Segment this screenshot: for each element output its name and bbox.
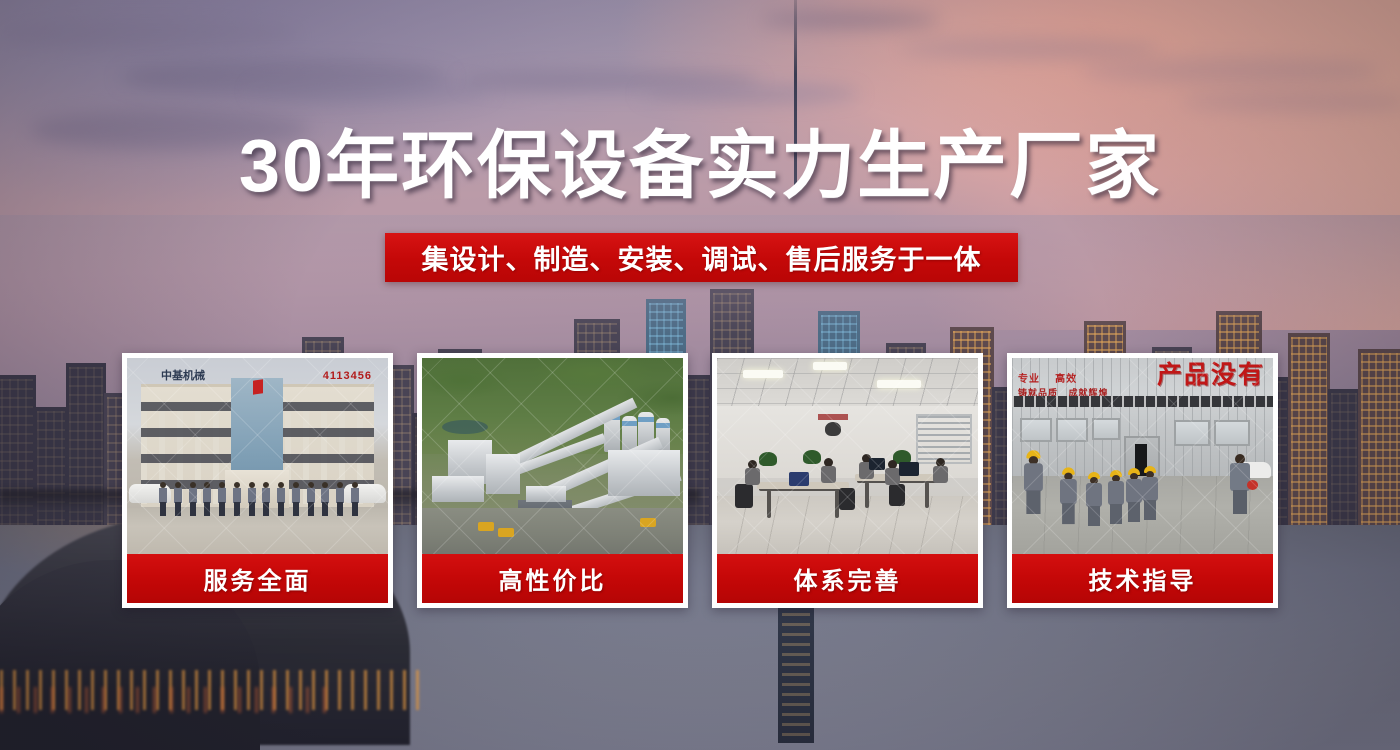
- card-caption-text: 体系完善: [794, 561, 902, 596]
- subtitle-banner: 集设计、制造、安装、调试、售后服务于一体: [385, 233, 1018, 282]
- factory-slogan-2: 高效: [1055, 374, 1077, 385]
- hero-banner: 30年环保设备实力生产厂家 集设计、制造、安装、调试、售后服务于一体 中基机械 …: [0, 0, 1400, 750]
- feature-card[interactable]: 产品没有 专业 高效 铸就品质 成就辉煌: [1007, 353, 1278, 608]
- factory-slogan-1: 专业: [1018, 374, 1040, 385]
- factory-signage-small: 专业 高效: [1018, 374, 1077, 386]
- cloud: [250, 78, 490, 104]
- page-title: 30年环保设备实力生产厂家: [0, 129, 1400, 203]
- feature-card[interactable]: 体系完善: [712, 353, 983, 608]
- cloud: [0, 20, 300, 50]
- card-caption-text: 服务全面: [204, 561, 312, 596]
- card-caption-bar: 体系完善: [717, 554, 978, 603]
- card-caption-bar: 高性价比: [422, 554, 683, 603]
- cloud: [900, 38, 1160, 60]
- feature-card-row: 中基机械 4113456: [122, 353, 1278, 608]
- office-window: [916, 414, 972, 464]
- card-photo-industrial-plant: [422, 358, 683, 554]
- card-photo-office-interior: [717, 358, 978, 554]
- card-caption-bar: 技术指导: [1012, 554, 1273, 603]
- staff-lineup: [159, 482, 359, 516]
- cloud: [760, 12, 940, 28]
- feature-card[interactable]: 中基机械 4113456: [122, 353, 393, 608]
- factory-signage-large: 产品没有: [1157, 362, 1265, 389]
- shore-lights: [0, 687, 340, 713]
- supervisor-figure: [1230, 454, 1258, 516]
- building-signage: 中基机械: [161, 370, 251, 383]
- feature-card[interactable]: 高性价比: [417, 353, 688, 608]
- building-phone-number: 4113456: [323, 370, 372, 383]
- flag-icon: [253, 379, 263, 394]
- subtitle-text: 集设计、制造、安装、调试、售后服务于一体: [422, 238, 982, 277]
- card-caption-text: 高性价比: [499, 561, 607, 596]
- cloud: [1180, 92, 1400, 112]
- card-photo-factory-workers: 产品没有 专业 高效 铸就品质 成就辉煌: [1012, 358, 1273, 554]
- cloud: [1080, 58, 1380, 84]
- card-caption-bar: 服务全面: [127, 554, 388, 603]
- wall-decal: [814, 414, 852, 442]
- card-photo-headquarters: 中基机械 4113456: [127, 358, 388, 554]
- cloud: [640, 85, 860, 103]
- card-caption-text: 技术指导: [1089, 561, 1197, 596]
